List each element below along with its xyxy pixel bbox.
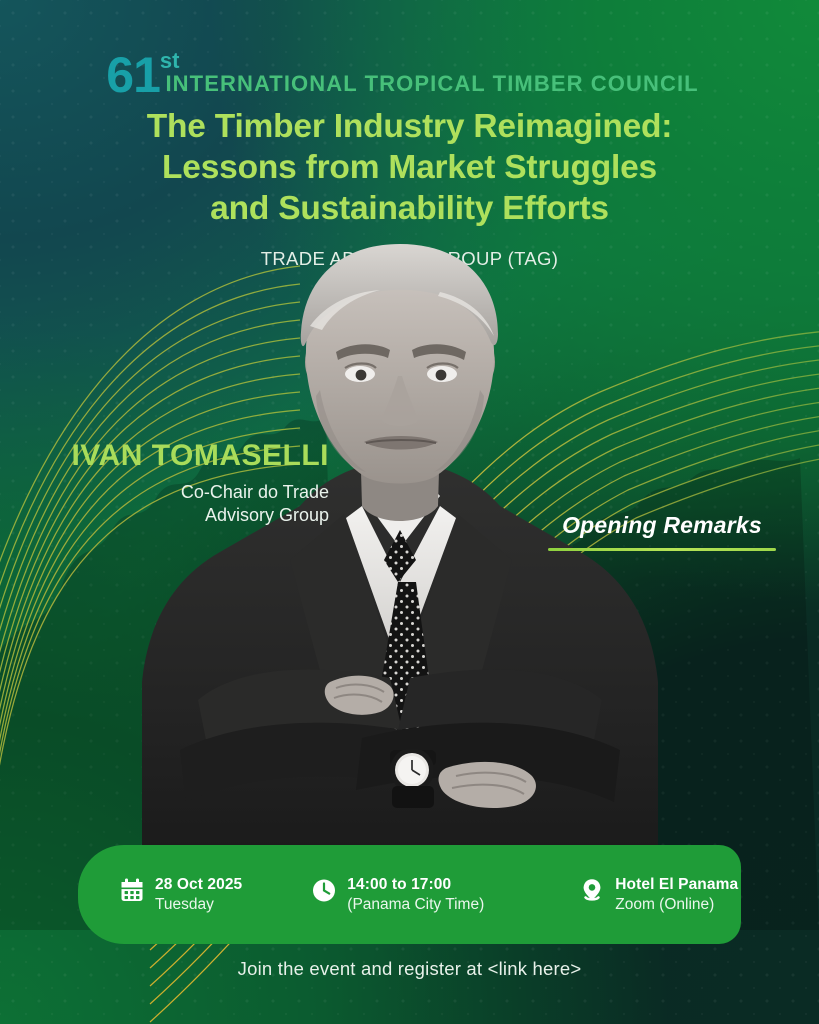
- clock-icon: [312, 878, 336, 903]
- title-line-2: Lessons from Market Struggles: [0, 147, 819, 188]
- info-location-secondary: Zoom (Online): [615, 895, 738, 914]
- info-text-date: 28 Oct 2025 Tuesday: [155, 875, 242, 913]
- edition-number: 61: [106, 52, 160, 98]
- info-item-date: 28 Oct 2025 Tuesday: [120, 875, 242, 913]
- speaker-block: IVAN TOMASELLI Co-Chair do Trade Advisor…: [0, 440, 345, 527]
- council-edition-row: 61 st INTERNATIONAL TROPICAL TIMBER COUN…: [0, 48, 819, 94]
- event-info-bar: 28 Oct 2025 Tuesday 14:00 to 17:00 (Pana…: [78, 845, 741, 944]
- speaker-name: IVAN TOMASELLI: [0, 440, 329, 472]
- info-time-secondary: (Panama City Time): [347, 895, 484, 914]
- opening-remarks-block: Opening Remarks: [548, 512, 776, 551]
- info-text-time: 14:00 to 17:00 (Panama City Time): [347, 875, 484, 913]
- location-pin-icon: [580, 878, 604, 903]
- title-line-3: and Sustainability Efforts: [0, 188, 819, 229]
- speaker-role-line-1: Co-Chair do Trade: [0, 481, 329, 504]
- opening-remarks-label: Opening Remarks: [548, 512, 776, 539]
- info-date-secondary: Tuesday: [155, 895, 242, 914]
- title-line-1: The Timber Industry Reimagined:: [0, 106, 819, 147]
- speaker-role: Co-Chair do Trade Advisory Group: [0, 481, 329, 527]
- council-name: INTERNATIONAL TROPICAL TIMBER COUNCIL: [165, 73, 698, 95]
- register-footer[interactable]: Join the event and register at <link her…: [0, 958, 819, 980]
- page-title: The Timber Industry Reimagined: Lessons …: [0, 106, 819, 230]
- speaker-role-line-2: Advisory Group: [0, 504, 329, 527]
- edition-suffix: st: [160, 50, 180, 72]
- info-item-location: Hotel El Panama Zoom (Online): [580, 875, 738, 913]
- info-location-primary: Hotel El Panama: [615, 875, 738, 894]
- calendar-icon: [120, 878, 144, 903]
- event-poster: 61 st INTERNATIONAL TROPICAL TIMBER COUN…: [0, 0, 819, 1024]
- opening-remarks-underline: [548, 548, 776, 551]
- info-time-primary: 14:00 to 17:00: [347, 875, 484, 894]
- info-date-primary: 28 Oct 2025: [155, 875, 242, 894]
- info-text-location: Hotel El Panama Zoom (Online): [615, 875, 738, 913]
- speaker-portrait: [140, 230, 660, 930]
- info-item-time: 14:00 to 17:00 (Panama City Time): [312, 875, 484, 913]
